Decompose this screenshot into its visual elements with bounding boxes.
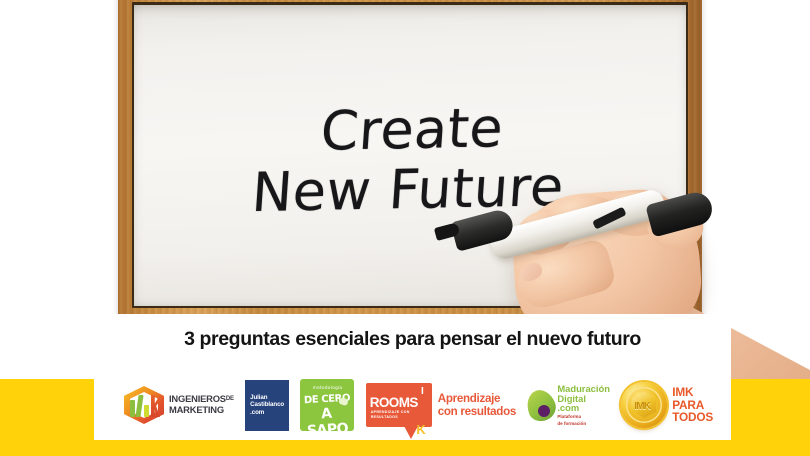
logo-maduracion-text: Maduración Digital .com Plataforma de fo… [557, 384, 610, 426]
banner-root: Create New Future [0, 0, 810, 456]
content-card: 3 preguntas esenciales para pensar el nu… [94, 314, 731, 440]
logo-julian-line3: .com [250, 409, 284, 417]
logo-julian-text: Julian Castiblanco .com [250, 394, 284, 417]
logo-madu-badge-line2: de formación [557, 421, 610, 426]
logo-rooms-letter-k: K [416, 422, 425, 437]
logo-de-cero-a-sapo[interactable]: metodología DE CERO A SAPO [300, 379, 354, 431]
logo-rooms-imk[interactable]: ROOMS APRENDIZAJE CON RESULTADOS I K Apr… [366, 383, 516, 427]
logo-maduracion-digital[interactable]: Maduración Digital .com Plataforma de fo… [527, 384, 610, 426]
partner-logo-row: INGENIEROSDE MARKETING Julian Castiblanc… [124, 376, 713, 434]
avocado-icon [527, 388, 555, 422]
logo-imk-para-todos[interactable]: IMK IMK PARA TODOS [621, 382, 713, 428]
logo-rooms-tagline: Aprendizaje con resultados [438, 392, 516, 418]
logo-sapo-line2: A SAPO [300, 404, 354, 431]
logo-rooms-sub: APRENDIZAJE CON RESULTADOS [371, 410, 432, 419]
logo-rooms-word: ROOMS [370, 395, 418, 410]
logo-rooms-tag-line2: con resultados [438, 405, 516, 418]
logo-madu-badge-line1: Plataforma [557, 414, 610, 419]
logo-julian-line1: Julian [250, 394, 284, 402]
logo-julian-line2: Castiblanco [250, 401, 284, 409]
logo-ingenieros-text: INGENIEROSDE MARKETING [169, 394, 234, 415]
gold-coin-icon: IMK [621, 382, 667, 428]
logo-sapo-kicker: metodología [300, 386, 354, 391]
page-title: 3 preguntas esenciales para pensar el nu… [94, 328, 731, 351]
handwriting-line-1: Create [134, 96, 690, 165]
coin-letters: IMK [634, 401, 650, 412]
imk-hexagon-icon [124, 386, 164, 424]
logo-imk-small: DE [226, 396, 234, 402]
logo-imk-line2: MARKETING [169, 404, 224, 415]
speech-bubble-icon: ROOMS APRENDIZAJE CON RESULTADOS I K [366, 383, 432, 427]
logo-todos-text: IMK PARA TODOS [672, 386, 713, 423]
logo-rooms-tag-line1: Aprendizaje [438, 392, 516, 405]
logo-ingenieros-de-marketing[interactable]: INGENIEROSDE MARKETING [124, 386, 234, 424]
logo-imk-line1: INGENIEROS [169, 393, 226, 404]
logo-todos-line3: TODOS [672, 411, 713, 423]
logo-rooms-letter-i: I [421, 386, 424, 397]
logo-madu-line3: .com [557, 403, 610, 413]
logo-julian-castiblanco[interactable]: Julian Castiblanco .com [245, 380, 289, 431]
logo-todos-line1: IMK [672, 386, 713, 398]
marker-clip [592, 207, 627, 230]
